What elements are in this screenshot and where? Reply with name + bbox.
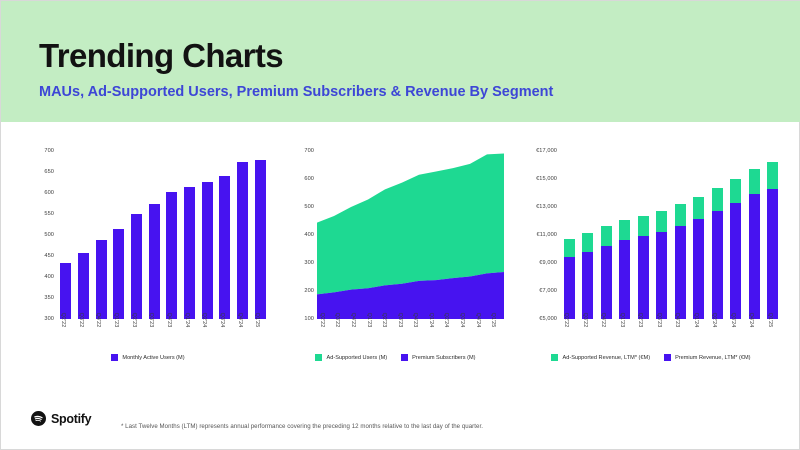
y-axis-tick: €17,000 (536, 148, 557, 154)
x-axis-tick-slot: Q3'24 (727, 319, 746, 353)
legend-swatch-icon (111, 354, 118, 361)
bar-slot[interactable] (560, 151, 579, 319)
x-axis-tick-label: Q1'24 (184, 313, 190, 328)
bar-slot[interactable] (163, 151, 181, 319)
x-axis-tick-label: Q2'22 (60, 313, 66, 328)
x-axis-tick-label: Q3'22 (334, 313, 340, 328)
bar-monthly-active-users (60, 263, 71, 319)
bar-segment-premium-revenue (638, 236, 649, 319)
legend-users: Ad-Supported Users (M)Premium Subscriber… (283, 354, 508, 361)
bar-monthly-active-users (202, 182, 213, 319)
bar-monthly-active-users (131, 214, 142, 319)
legend-swatch-icon (315, 354, 322, 361)
bar-segment-ad-revenue (638, 216, 649, 236)
bar-segment-premium-revenue (656, 232, 667, 320)
y-axis-tick: 300 (44, 316, 54, 322)
y-axis-tick: 200 (304, 288, 314, 294)
legend-label: Monthly Active Users (M) (122, 355, 184, 361)
bar-monthly-active-users (96, 240, 107, 319)
x-axis-tick-label: Q2'23 (637, 313, 643, 328)
bar-monthly-active-users (255, 160, 266, 319)
y-axis-tick: 100 (304, 316, 314, 322)
x-axis-tick-slot: Q4'24 (234, 319, 252, 353)
x-axis-tick-label: Q3'24 (459, 313, 465, 328)
bar-slot[interactable] (198, 151, 216, 319)
x-axis-tick-slot: Q2'24 (442, 319, 458, 353)
y-axis-tick: 300 (304, 260, 314, 266)
x-axis-tick-label: Q4'24 (475, 313, 481, 328)
x-axis-tick-label: Q4'22 (95, 313, 101, 328)
y-axis-tick: 400 (304, 232, 314, 238)
bar-segment-premium-revenue (675, 226, 686, 319)
bar-monthly-active-users (184, 187, 195, 319)
x-axis-tick-label: Q1'23 (619, 313, 625, 328)
x-axis-tick-label: Q3'23 (397, 313, 403, 328)
x-axis-tick-slot: Q4'23 (671, 319, 690, 353)
y-axis-tick: 450 (44, 253, 54, 259)
x-axis-tick-slot: Q4'24 (473, 319, 489, 353)
slide-canvas: Trending Charts MAUs, Ad-Supported Users… (0, 0, 800, 450)
y-axis-tick: 700 (304, 148, 314, 154)
bar-segment-premium-revenue (564, 257, 575, 319)
bar-segment-ad-revenue (712, 188, 723, 211)
x-axis-tick-slot: Q3'23 (653, 319, 672, 353)
legend-swatch-icon (551, 354, 558, 361)
x-axis-tick-slot: Q4'22 (92, 319, 110, 353)
legend-item[interactable]: Monthly Active Users (M) (111, 354, 184, 361)
y-axis-tick: 600 (44, 190, 54, 196)
x-axis-tick-slot: Q3'24 (457, 319, 473, 353)
x-axis-tick-label: Q4'23 (412, 313, 418, 328)
y-axis-tick: 550 (44, 211, 54, 217)
chart-panel-revenue: €17,000€15,000€13,000€11,000€9,000€7,000… (516, 151, 786, 366)
chart-panel-users: 700600500400300200100 Q2'22Q3'22Q4'22Q1'… (283, 151, 508, 366)
bar-segment-premium-revenue (730, 203, 741, 319)
x-axis-tick-slot: Q1'25 (488, 319, 504, 353)
bar-slot[interactable] (110, 151, 128, 319)
bar-segment-premium-revenue (693, 219, 704, 319)
y-axis-tick: 700 (44, 148, 54, 154)
x-axis-tick-slot: Q2'24 (198, 319, 216, 353)
plot-mau (57, 151, 269, 319)
bar-slot[interactable] (764, 151, 783, 319)
bar-segment-ad-revenue (582, 233, 593, 252)
bar-slot[interactable] (616, 151, 635, 319)
bar-monthly-active-users (219, 176, 230, 319)
legend-revenue: Ad-Supported Revenue, LTM* (€M)Premium R… (516, 354, 786, 361)
x-axis-tick-label: Q2'23 (131, 313, 137, 328)
bar-slot[interactable] (634, 151, 653, 319)
x-axis-tick-slot: Q2'23 (128, 319, 146, 353)
bar-series-mau (57, 151, 269, 319)
bar-monthly-active-users (78, 253, 89, 319)
bar-segment-ad-revenue (675, 204, 686, 226)
y-axis-mau: 700650600550500450400350300 (23, 151, 57, 319)
y-axis-tick: €15,000 (536, 176, 557, 182)
y-axis-tick: 500 (304, 204, 314, 210)
legend-label: Ad-Supported Users (M) (326, 355, 387, 361)
bar-segment-premium-revenue (582, 252, 593, 319)
bar-slot[interactable] (181, 151, 199, 319)
x-axis-tick-label: Q3'23 (148, 313, 154, 328)
plot-area-mau: 700650600550500450400350300 (23, 151, 273, 319)
spotify-logo: Spotify (31, 411, 91, 426)
plot-revenue (560, 151, 782, 319)
stacked-area-users (317, 151, 504, 319)
plot-area-users: 700600500400300200100 (283, 151, 508, 319)
footnote-text: * Last Twelve Months (LTM) represents an… (121, 423, 483, 430)
bar-segment-ad-revenue (693, 197, 704, 219)
spotify-wordmark: Spotify (51, 412, 91, 426)
bar-segment-premium-revenue (601, 246, 612, 320)
x-axis-tick-label: Q2'23 (381, 313, 387, 328)
bar-slot[interactable] (57, 151, 75, 319)
y-axis-tick: 650 (44, 169, 54, 175)
x-axis-revenue: Q2'22Q3'22Q4'22Q1'23Q2'23Q3'23Q4'23Q1'24… (560, 319, 782, 353)
x-axis-tick-slot: Q2'23 (634, 319, 653, 353)
bar-slot[interactable] (727, 151, 746, 319)
x-axis-tick-label: Q3'24 (730, 313, 736, 328)
x-axis-tick-label: Q1'24 (693, 313, 699, 328)
bar-slot[interactable] (251, 151, 269, 319)
x-axis-tick-slot: Q4'23 (163, 319, 181, 353)
x-axis-tick-label: Q2'24 (201, 313, 207, 328)
x-axis-tick-slot: Q1'23 (364, 319, 380, 353)
x-axis-users: Q2'22Q3'22Q4'22Q1'23Q2'23Q3'23Q4'23Q1'24… (317, 319, 504, 353)
x-axis-tick-slot: Q2'22 (57, 319, 75, 353)
x-axis-tick-slot: Q2'22 (317, 319, 333, 353)
legend-swatch-icon (401, 354, 408, 361)
x-axis-tick-label: Q1'23 (113, 313, 119, 328)
x-axis-tick-slot: Q3'23 (395, 319, 411, 353)
x-axis-tick-slot: Q1'24 (426, 319, 442, 353)
x-axis-tick-slot: Q3'22 (333, 319, 349, 353)
x-axis-tick-label: Q4'22 (600, 313, 606, 328)
x-axis-tick-slot: Q4'22 (348, 319, 364, 353)
bar-slot[interactable] (216, 151, 234, 319)
legend-label: Premium Revenue, LTM* (€M) (675, 355, 750, 361)
bar-segment-ad-revenue (749, 169, 760, 194)
x-axis-tick-label: Q2'24 (443, 313, 449, 328)
x-axis-tick-slot: Q4'22 (597, 319, 616, 353)
area-ad-supported-users (317, 154, 504, 295)
bar-segment-premium-revenue (749, 194, 760, 319)
bar-monthly-active-users (149, 204, 160, 319)
y-axis-tick: €5,000 (539, 316, 557, 322)
bar-monthly-active-users (113, 229, 124, 319)
x-axis-tick-slot: Q3'24 (216, 319, 234, 353)
spotify-logo-icon (31, 411, 46, 426)
legend-swatch-icon (664, 354, 671, 361)
plot-users (317, 151, 504, 319)
x-axis-tick-slot: Q2'23 (379, 319, 395, 353)
x-axis-tick-label: Q3'22 (78, 313, 84, 328)
bar-slot[interactable] (92, 151, 110, 319)
x-axis-mau: Q2'22Q3'22Q4'22Q1'23Q2'23Q3'23Q4'23Q1'24… (57, 319, 269, 353)
x-axis-tick-slot: Q1'25 (251, 319, 269, 353)
x-axis-tick-label: Q2'24 (711, 313, 717, 328)
x-axis-tick-slot: Q4'23 (410, 319, 426, 353)
bar-monthly-active-users (237, 162, 248, 320)
bar-slot[interactable] (579, 151, 598, 319)
legend-item[interactable]: Premium Subscribers (M) (401, 354, 475, 361)
bar-segment-premium-revenue (712, 211, 723, 319)
x-axis-tick-label: Q1'25 (254, 313, 260, 328)
legend-item[interactable]: Ad-Supported Revenue, LTM* (€M) (551, 354, 650, 361)
x-axis-tick-label: Q2'22 (319, 313, 325, 328)
x-axis-tick-slot: Q1'24 (690, 319, 709, 353)
bar-monthly-active-users (166, 192, 177, 319)
bar-segment-ad-revenue (619, 220, 630, 240)
legend-label: Ad-Supported Revenue, LTM* (€M) (562, 355, 650, 361)
x-axis-tick-slot: Q2'24 (708, 319, 727, 353)
y-axis-tick: €13,000 (536, 204, 557, 210)
bar-slot[interactable] (690, 151, 709, 319)
bar-slot[interactable] (128, 151, 146, 319)
legend-item[interactable]: Premium Revenue, LTM* (€M) (664, 354, 750, 361)
y-axis-tick: €11,000 (536, 232, 557, 238)
x-axis-tick-label: Q4'23 (674, 313, 680, 328)
y-axis-tick: 500 (44, 232, 54, 238)
x-axis-tick-label: Q1'25 (767, 313, 773, 328)
bar-segment-premium-revenue (767, 189, 778, 319)
x-axis-tick-label: Q3'24 (219, 313, 225, 328)
y-axis-tick: 600 (304, 176, 314, 182)
bar-slot[interactable] (597, 151, 616, 319)
bar-series-revenue (560, 151, 782, 319)
page-subtitle: MAUs, Ad-Supported Users, Premium Subscr… (39, 84, 553, 100)
chart-panel-mau: 700650600550500450400350300 Q2'22Q3'22Q4… (23, 151, 273, 366)
x-axis-tick-slot: Q4'24 (745, 319, 764, 353)
x-axis-tick-slot: Q3'22 (579, 319, 598, 353)
x-axis-tick-label: Q3'22 (582, 313, 588, 328)
y-axis-users: 700600500400300200100 (283, 151, 317, 319)
legend-label: Premium Subscribers (M) (412, 355, 475, 361)
header-band: Trending Charts MAUs, Ad-Supported Users… (1, 1, 800, 122)
bar-slot[interactable] (75, 151, 93, 319)
bar-segment-premium-revenue (619, 240, 630, 319)
x-axis-tick-label: Q3'23 (656, 313, 662, 328)
bar-slot[interactable] (745, 151, 764, 319)
bar-segment-ad-revenue (601, 226, 612, 246)
bar-segment-ad-revenue (730, 179, 741, 203)
x-axis-tick-slot: Q1'25 (764, 319, 783, 353)
x-axis-tick-label: Q1'25 (490, 313, 496, 328)
bar-slot[interactable] (234, 151, 252, 319)
x-axis-tick-label: Q1'23 (366, 313, 372, 328)
bar-slot[interactable] (145, 151, 163, 319)
x-axis-tick-slot: Q1'23 (110, 319, 128, 353)
bar-slot[interactable] (708, 151, 727, 319)
x-axis-tick-slot: Q1'24 (181, 319, 199, 353)
bar-segment-ad-revenue (564, 239, 575, 257)
legend-item[interactable]: Ad-Supported Users (M) (315, 354, 387, 361)
x-axis-tick-slot: Q3'23 (145, 319, 163, 353)
x-axis-tick-slot: Q3'22 (75, 319, 93, 353)
plot-area-revenue: €17,000€15,000€13,000€11,000€9,000€7,000… (516, 151, 786, 319)
y-axis-tick: 400 (44, 274, 54, 280)
bar-slot[interactable] (671, 151, 690, 319)
y-axis-tick: €7,000 (539, 288, 557, 294)
x-axis-tick-slot: Q1'23 (616, 319, 635, 353)
bar-slot[interactable] (653, 151, 672, 319)
legend-mau: Monthly Active Users (M) (23, 354, 273, 361)
x-axis-tick-label: Q4'24 (237, 313, 243, 328)
bar-segment-ad-revenue (656, 211, 667, 232)
page-title: Trending Charts (39, 37, 283, 75)
x-axis-tick-slot: Q2'22 (560, 319, 579, 353)
y-axis-tick: 350 (44, 295, 54, 301)
y-axis-revenue: €17,000€15,000€13,000€11,000€9,000€7,000… (516, 151, 560, 319)
x-axis-tick-label: Q2'22 (563, 313, 569, 328)
x-axis-tick-label: Q4'22 (350, 313, 356, 328)
x-axis-tick-label: Q4'24 (748, 313, 754, 328)
x-axis-tick-label: Q1'24 (428, 313, 434, 328)
y-axis-tick: €9,000 (539, 260, 557, 266)
x-axis-tick-label: Q4'23 (166, 313, 172, 328)
bar-segment-ad-revenue (767, 162, 778, 189)
